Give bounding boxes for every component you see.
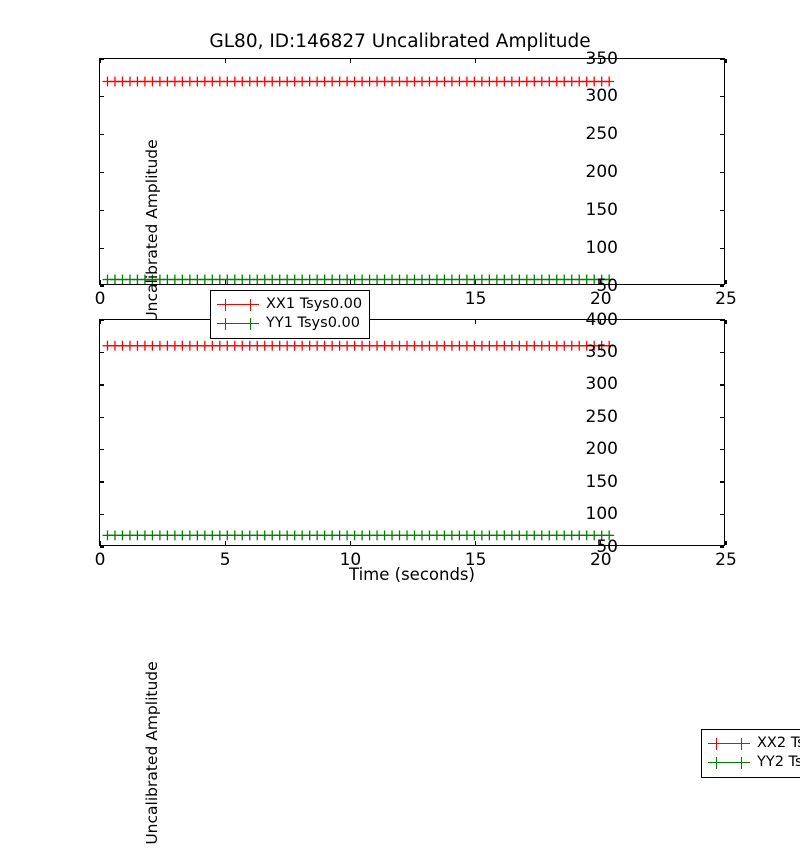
x-tick-top-top: [99, 59, 100, 63]
y-tick-top: [100, 248, 104, 249]
legend-entry-yy2: YY2 Tsys0.00: [708, 753, 800, 772]
y-tick-top: [100, 96, 104, 97]
x-tick-bottom: [725, 541, 726, 545]
y-tick-right-top: [720, 210, 724, 211]
y-tick-label-bottom: 100: [586, 506, 618, 523]
x-tick-top-top: [475, 59, 476, 63]
series-yy2: [103, 530, 615, 540]
y-tick-bottom: [100, 417, 104, 418]
legend-top[interactable]: XX1 Tsys0.00 YY1 Tsys0.00: [210, 290, 370, 339]
y-tick-right-bottom: [720, 384, 724, 385]
y-tick-label-top: 150: [586, 202, 618, 219]
y-tick-right-top: [720, 172, 724, 173]
y-axis-label-bottom: Uncalibrated Amplitude: [143, 638, 161, 868]
x-tick-bottom: [99, 541, 100, 545]
y-tick-bottom: [100, 449, 104, 450]
y-tick-right-top: [720, 285, 724, 286]
x-axis-label-bottom: Time (seconds): [99, 565, 725, 584]
y-tick-top: [100, 134, 104, 135]
y-tick-bottom: [100, 481, 104, 482]
x-tick-label-top: 20: [571, 291, 631, 308]
y-tick-right-bottom: [720, 514, 724, 515]
x-tick-top-bottom: [725, 320, 726, 324]
plot-area-top: [100, 59, 724, 284]
y-tick-bottom: [100, 546, 104, 547]
x-tick-top: [725, 280, 726, 284]
x-tick-top: [99, 280, 100, 284]
legend-marker-icon-yy2: [708, 756, 750, 770]
y-tick-top: [100, 285, 104, 286]
plot-area-bottom: [100, 320, 724, 545]
x-tick-bottom: [350, 541, 351, 545]
y-tick-right-bottom: [720, 481, 724, 482]
y-tick-bottom: [100, 352, 104, 353]
legend-marker-icon-xx1: [217, 298, 259, 312]
legend-label-xx2: XX2 Tsys0.00: [757, 736, 800, 751]
y-tick-label-bottom: 200: [586, 441, 618, 458]
y-tick-right-top: [720, 134, 724, 135]
series-xx1: [103, 77, 615, 87]
x-tick-label-top: 15: [446, 291, 506, 308]
x-tick-top-top: [225, 59, 226, 63]
y-tick-right-top: [720, 58, 724, 59]
y-tick-bottom: [100, 514, 104, 515]
legend-marker-icon-yy1: [217, 317, 259, 331]
y-tick-top: [100, 210, 104, 211]
legend-entry-yy1: YY1 Tsys0.00: [217, 314, 362, 333]
x-tick-top-top: [725, 59, 726, 63]
x-tick-top-bottom: [475, 320, 476, 324]
series-xx2: [103, 341, 615, 351]
series-canvas-top: [100, 59, 724, 284]
y-tick-right-top: [720, 248, 724, 249]
y-tick-top: [100, 172, 104, 173]
y-tick-label-bottom: 250: [586, 409, 618, 426]
y-tick-right-bottom: [720, 319, 724, 320]
y-tick-bottom: [100, 384, 104, 385]
x-tick-top: [225, 280, 226, 284]
series-canvas-bottom: [100, 320, 724, 545]
y-tick-right-bottom: [720, 417, 724, 418]
y-tick-label-bottom: 300: [586, 376, 618, 393]
y-tick-label-bottom: 400: [586, 312, 618, 329]
y-tick-label-top: 200: [586, 164, 618, 181]
plot-panel-bottom: Uncalibrated Amplitude XX2 Tsys0.00 YY2 …: [99, 319, 725, 546]
legend-bottom[interactable]: XX2 Tsys0.00 YY2 Tsys0.00: [701, 729, 800, 778]
y-tick-label-top: 250: [586, 126, 618, 143]
x-tick-top-bottom: [99, 320, 100, 324]
x-tick-top-top: [350, 59, 351, 63]
x-tick-label-top: 25: [696, 291, 756, 308]
x-tick-bottom: [475, 541, 476, 545]
x-tick-top: [475, 280, 476, 284]
plot-panel-top: Uncalibrated Amplitude XX1 Tsys0.00 YY1 …: [99, 58, 725, 285]
y-tick-right-top: [720, 96, 724, 97]
legend-entry-xx2: XX2 Tsys0.00: [708, 734, 800, 753]
y-tick-label-bottom: 350: [586, 344, 618, 361]
legend-marker-icon-xx2: [708, 737, 750, 751]
y-tick-right-bottom: [720, 449, 724, 450]
figure-title: GL80, ID:146827 Uncalibrated Amplitude: [0, 31, 800, 52]
y-axis-label-top: Uncalibrated Amplitude: [143, 116, 161, 346]
legend-label-yy1: YY1 Tsys0.00: [266, 316, 360, 331]
legend-label-yy2: YY2 Tsys0.00: [757, 755, 800, 770]
matplotlib-figure: GL80, ID:146827 Uncalibrated Amplitude U…: [0, 0, 800, 600]
y-tick-right-bottom: [720, 546, 724, 547]
y-tick-label-top: 100: [586, 240, 618, 257]
legend-entry-xx1: XX1 Tsys0.00: [217, 295, 362, 314]
x-tick-bottom: [225, 541, 226, 545]
y-tick-right-bottom: [720, 352, 724, 353]
x-tick-top: [350, 280, 351, 284]
y-tick-label-top: 300: [586, 88, 618, 105]
x-tick-label-top: 0: [70, 291, 130, 308]
series-yy1: [103, 275, 615, 284]
y-tick-label-bottom: 150: [586, 474, 618, 491]
y-tick-label-top: 350: [586, 51, 618, 68]
legend-label-xx1: XX1 Tsys0.00: [266, 297, 362, 312]
